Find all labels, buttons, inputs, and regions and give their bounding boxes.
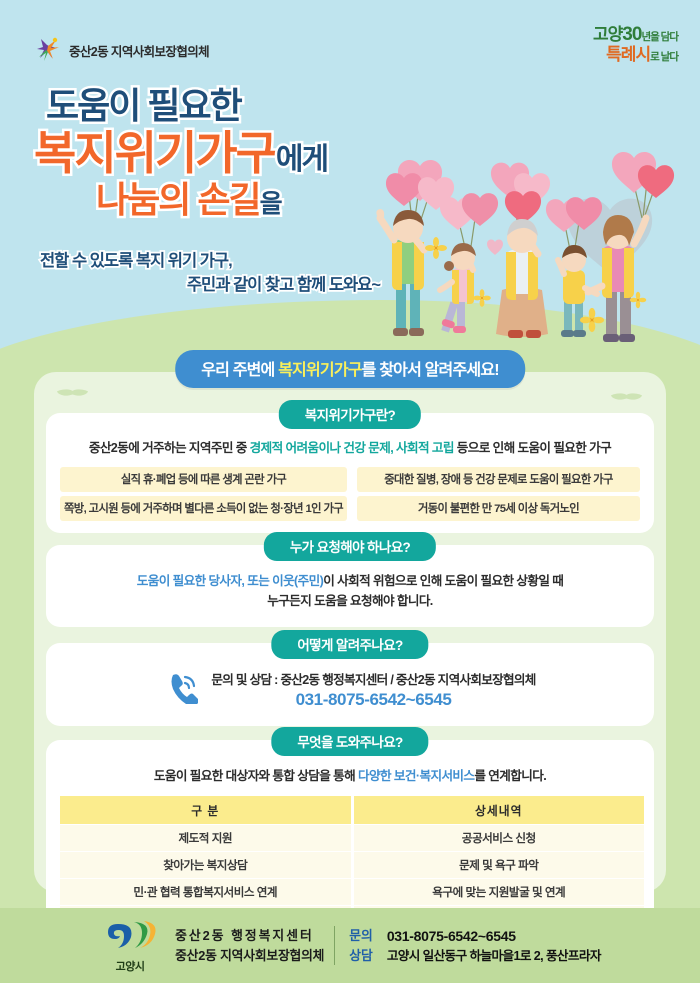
headline-line3-main: 나눔의 손길 bbox=[96, 179, 260, 220]
criteria-item: 거동이 불편한 만 75세 이상 독거노인 bbox=[357, 496, 640, 521]
footer-labels: 문의 상담 bbox=[349, 926, 373, 966]
criteria-item: 쪽방, 고시원 등에 거주하며 별다른 소득이 없는 청·장년 1인 가구 bbox=[60, 496, 347, 521]
how-contact-line: 문의 및 상담 : 중산2동 행정복지센터 / 중산2동 지역사회보장협의체 bbox=[211, 669, 535, 688]
goyang-city-label: 고양시 bbox=[99, 958, 161, 974]
banner-post: 를 찾아서 알려주세요! bbox=[362, 362, 499, 379]
footer-center-line2: 중산2동 지역사회보장협의체 bbox=[175, 946, 324, 966]
table-header-cell: 상세내역 bbox=[352, 796, 644, 825]
table-cell: 제도적 지원 bbox=[60, 825, 352, 852]
criteria-item: 실직 휴·폐업 등에 따른 생계 곤란 가구 bbox=[60, 467, 347, 492]
slogan-line2-tail: 로 날다 bbox=[650, 51, 678, 63]
who-lead-post: 이 사회적 위험으로 인해 도움이 필요한 상황일 때 bbox=[323, 574, 563, 588]
goyang-logo-icon bbox=[104, 918, 156, 952]
table-row: 찾아가는 복지상담 문제 및 욕구 파악 bbox=[60, 852, 644, 879]
footer: 고양시 중산2동 행정복지센터 중산2동 지역사회보장협의체 문의 상담 031… bbox=[0, 908, 700, 983]
footer-label-inquiry: 문의 bbox=[349, 926, 373, 946]
section-title-how: 어떻게 알려주나요? bbox=[271, 630, 428, 659]
table-cell: 찾아가는 복지상담 bbox=[60, 852, 352, 879]
callout-banner: 우리 주변에 복지위기가구를 찾아서 알려주세요! bbox=[175, 350, 525, 388]
person-star-logo-icon bbox=[34, 36, 62, 64]
definition-lead-highlight: 경제적 어려움이나 건강 문제, 사회적 고립 bbox=[250, 441, 454, 455]
banner-pre: 우리 주변에 bbox=[201, 362, 278, 379]
volunteer-figure bbox=[440, 243, 476, 333]
org-logo-label: 중산2동 지역사회보장협의체 bbox=[69, 41, 209, 60]
footer-address: 고양시 일산동구 하늘마을1로 2, 풍산프라자 bbox=[387, 947, 601, 966]
headline-line1: 도움이 필요한 bbox=[46, 88, 454, 124]
footer-phone[interactable]: 031-8075-6542~6545 bbox=[387, 926, 601, 947]
footer-center-names: 중산2동 행정복지센터 중산2동 지역사회보장협의체 bbox=[175, 926, 335, 966]
headline-subtitle: 전할 수 있도록 복지 위기 가구, 주민과 같이 찾고 함께 도와요~ bbox=[40, 250, 380, 298]
section-title-who: 누가 요청해야 하나요? bbox=[264, 532, 436, 561]
city-slogan: 고양30년을 담다 특례시로 날다 bbox=[593, 24, 678, 64]
card-who: 누가 요청해야 하나요? 도움이 필요한 당사자, 또는 이웃(주민)이 사회적… bbox=[46, 545, 654, 627]
subtitle-line2: 주민과 같이 찾고 함께 도와요~ bbox=[40, 274, 380, 298]
headline-line3-suffix: 을 bbox=[260, 190, 281, 218]
who-lead-line2: 누구든지 도움을 요청해야 합니다. bbox=[60, 591, 640, 611]
table-row: 민·관 협력 통합복지서비스 연계 욕구에 맞는 지원발굴 및 연계 bbox=[60, 879, 644, 906]
headline-line2-suffix: 에게 bbox=[276, 143, 327, 176]
headline-line2-main: 복지위기가구 bbox=[34, 127, 276, 179]
what-lead-post: 를 연계합니다. bbox=[474, 769, 546, 783]
poster: 중산2동 지역사회보장협의체 고양30년을 담다 특례시로 날다 도움이 필요한… bbox=[0, 0, 700, 983]
footer-values: 031-8075-6542~6545 고양시 일산동구 하늘마을1로 2, 풍산… bbox=[387, 926, 601, 966]
who-lead: 도움이 필요한 당사자, 또는 이웃(주민)이 사회적 위험으로 인해 도움이 … bbox=[60, 571, 640, 611]
slogan-line1-tail: 년을 담다 bbox=[641, 31, 678, 43]
footer-label-consult: 상담 bbox=[349, 946, 373, 966]
volunteers-illustration bbox=[360, 140, 700, 355]
criteria-item: 중대한 질병, 장애 등 건강 문제로 도움이 필요한 가구 bbox=[357, 467, 640, 492]
table-header-cell: 구 분 bbox=[60, 796, 352, 825]
table-row: 제도적 지원 공공서비스 신청 bbox=[60, 825, 644, 852]
section-title-definition: 복지위기가구란? bbox=[279, 400, 421, 429]
criteria-grid: 실직 휴·폐업 등에 따른 생계 곤란 가구 중대한 질병, 장애 등 건강 문… bbox=[60, 467, 640, 521]
what-lead-pre: 도움이 필요한 대상자와 통합 상담을 통해 bbox=[154, 769, 358, 783]
volunteer-figure bbox=[496, 219, 548, 338]
volunteer-figure bbox=[376, 209, 424, 336]
phone-icon bbox=[164, 670, 198, 709]
what-lead-highlight: 다양한 보건·복지서비스 bbox=[358, 769, 474, 783]
definition-lead: 중산2동에 거주하는 지역주민 중 경제적 어려움이나 건강 문제, 사회적 고… bbox=[60, 439, 640, 458]
definition-lead-pre: 중산2동에 거주하는 지역주민 중 bbox=[89, 441, 250, 455]
goyang-city-logo: 고양시 bbox=[99, 918, 161, 974]
section-title-what: 무엇을 도와주나요? bbox=[271, 727, 428, 756]
banner-highlight: 복지위기가구 bbox=[278, 362, 362, 379]
slogan-line1-number: 30 bbox=[622, 24, 641, 45]
slogan-line1-main: 고양 bbox=[593, 25, 622, 44]
table-cell: 욕구에 맞는 지원발굴 및 연계 bbox=[352, 879, 644, 906]
table-cell: 문제 및 욕구 파악 bbox=[352, 852, 644, 879]
card-how: 어떻게 알려주나요? 문의 및 상담 : 중산2동 행정복지센터 / 중산2동 … bbox=[46, 643, 654, 726]
definition-lead-post: 등으로 인해 도움이 필요한 가구 bbox=[454, 441, 611, 455]
card-definition: 복지위기가구란? 중산2동에 거주하는 지역주민 중 경제적 어려움이나 건강 … bbox=[46, 413, 654, 533]
what-lead: 도움이 필요한 대상자와 통합 상담을 통해 다양한 보건·복지서비스를 연계합… bbox=[60, 766, 640, 786]
slogan-line2-main: 특례시 bbox=[606, 45, 650, 64]
table-header-row: 구 분 상세내역 bbox=[60, 796, 644, 825]
how-phone-number[interactable]: 031-8075-6542~6545 bbox=[211, 690, 535, 710]
who-lead-highlight: 도움이 필요한 당사자, 또는 이웃(주민) bbox=[137, 574, 323, 588]
org-logo: 중산2동 지역사회보장협의체 bbox=[34, 36, 209, 64]
table-cell: 민·관 협력 통합복지서비스 연계 bbox=[60, 879, 352, 906]
table-cell: 공공서비스 신청 bbox=[352, 825, 644, 852]
footer-center-line1: 중산2동 행정복지센터 bbox=[175, 926, 324, 946]
subtitle-line1: 전할 수 있도록 복지 위기 가구, bbox=[40, 252, 232, 270]
